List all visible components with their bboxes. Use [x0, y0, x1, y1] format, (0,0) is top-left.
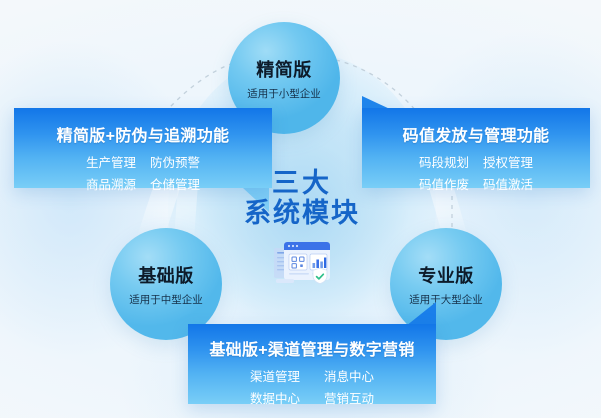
dashboard-qrcode-chart-shield-icon [272, 238, 334, 294]
panel-tail-bottom [406, 302, 436, 326]
panel-title: 基础版+渠道管理与数字营销 [188, 336, 436, 360]
panel-code-issuance-management[interactable]: 码值发放与管理功能 码段规划 授权管理 码值作废 码值激活 [362, 108, 590, 188]
panel-feature-row: 数据中心 营销互动 [188, 388, 436, 407]
panel-feature-item: 码值激活 [483, 174, 533, 193]
panel-feature-item: 消息中心 [324, 366, 374, 385]
panel-feature-item: 生产管理 [86, 152, 136, 171]
page-title-line1: 三大 [216, 168, 388, 198]
panel-feature-item: 数据中心 [250, 388, 300, 407]
infographic-canvas: 精简版 适用于小型企业 基础版 适用于中型企业 专业版 适用于大型企业 精简版+… [0, 0, 601, 418]
panel-title: 精简版+防伪与追溯功能 [14, 122, 272, 146]
circle-subtitle: 适用于中型企业 [129, 292, 203, 307]
panel-feature-item: 营销互动 [324, 388, 374, 407]
panel-feature-row: 码值作废 码值激活 [362, 174, 590, 193]
circle-subtitle: 适用于小型企业 [247, 86, 321, 101]
panel-feature-row: 渠道管理 消息中心 [188, 366, 436, 385]
circle-title: 精简版 [256, 56, 312, 82]
page-title-line2: 系统模块 [216, 198, 388, 228]
panel-feature-item: 仓储管理 [150, 174, 200, 193]
panel-title: 码值发放与管理功能 [362, 122, 590, 146]
panel-feature-item: 码值作废 [419, 174, 469, 193]
panel-feature-item: 防伪预警 [150, 152, 200, 171]
page-title: 三大 系统模块 [216, 168, 388, 228]
panel-feature-item: 渠道管理 [250, 366, 300, 385]
circle-title: 基础版 [138, 262, 194, 288]
panel-feature-row: 码段规划 授权管理 [362, 152, 590, 171]
circle-title: 专业版 [418, 262, 474, 288]
panel-feature-item: 商品溯源 [86, 174, 136, 193]
panel-feature-item: 码段规划 [419, 152, 469, 171]
panel-channel-digital-marketing[interactable]: 基础版+渠道管理与数字营销 渠道管理 消息中心 数据中心 营销互动 [188, 324, 436, 404]
panel-feature-item: 授权管理 [483, 152, 533, 171]
